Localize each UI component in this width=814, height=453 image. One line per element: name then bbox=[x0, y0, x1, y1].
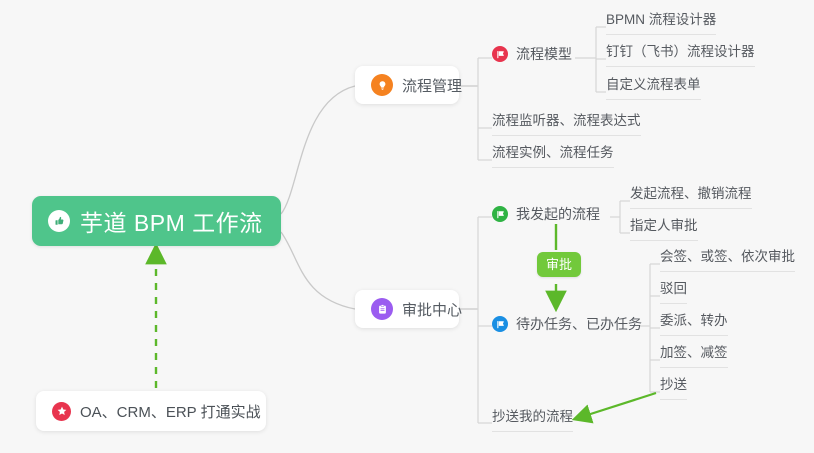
leaf-reject[interactable]: 驳回 bbox=[660, 281, 687, 304]
star-icon bbox=[52, 402, 71, 421]
node-process-model-label: 流程模型 bbox=[516, 44, 572, 64]
leaf-cc-my-process[interactable]: 抄送我的流程 bbox=[492, 409, 573, 432]
link-root-to-approval-center bbox=[281, 232, 355, 309]
clipboard-icon bbox=[371, 298, 393, 320]
leaf-custom-form[interactable]: 自定义流程表单 bbox=[606, 77, 701, 100]
arrow-cc-to-cc-my-process bbox=[578, 393, 656, 418]
node-todo-done[interactable]: 待办任务、已办任务 bbox=[492, 313, 642, 335]
leaf-delegate-transfer[interactable]: 委派、转办 bbox=[660, 313, 728, 336]
leaf-start-cancel[interactable]: 发起流程、撤销流程 bbox=[630, 186, 752, 209]
leaf-dingtalk-designer[interactable]: 钉钉（飞书）流程设计器 bbox=[606, 44, 755, 67]
leaf-add-remove-sign[interactable]: 加签、减签 bbox=[660, 345, 728, 368]
leaf-assignee-approve[interactable]: 指定人审批 bbox=[630, 218, 698, 241]
node-approval-center-label: 审批中心 bbox=[402, 299, 462, 320]
thumbs-up-icon bbox=[48, 210, 70, 232]
flag-icon bbox=[492, 316, 508, 332]
leaf-multi-sign[interactable]: 会签、或签、依次审批 bbox=[660, 249, 795, 272]
leaf-cc[interactable]: 抄送 bbox=[660, 377, 687, 400]
node-approval-center[interactable]: 审批中心 bbox=[355, 290, 459, 328]
lightbulb-icon bbox=[371, 74, 393, 96]
node-process-mgmt[interactable]: 流程管理 bbox=[355, 66, 459, 104]
node-process-mgmt-label: 流程管理 bbox=[402, 75, 462, 96]
mindmap-canvas: 芋道 BPM 工作流 流程管理 流程模型 BPMN 流程设计器 钉钉（飞书）流程… bbox=[0, 0, 814, 453]
node-oa-crm-erp[interactable]: OA、CRM、ERP 打通实战 bbox=[36, 391, 266, 431]
node-my-initiated[interactable]: 我发起的流程 bbox=[492, 203, 600, 225]
node-process-model[interactable]: 流程模型 bbox=[492, 43, 572, 65]
root-node[interactable]: 芋道 BPM 工作流 bbox=[32, 196, 281, 246]
leaf-bpmn-designer[interactable]: BPMN 流程设计器 bbox=[606, 12, 716, 35]
flag-icon bbox=[492, 46, 508, 62]
badge-approve: 审批 bbox=[537, 252, 581, 277]
root-label: 芋道 BPM 工作流 bbox=[80, 204, 263, 238]
flag-icon bbox=[492, 206, 508, 222]
node-oa-crm-erp-label: OA、CRM、ERP 打通实战 bbox=[80, 401, 261, 422]
leaf-listener-expr[interactable]: 流程监听器、流程表达式 bbox=[492, 113, 641, 136]
link-root-to-process-mgmt bbox=[281, 86, 355, 214]
leaf-instance-task[interactable]: 流程实例、流程任务 bbox=[492, 145, 614, 168]
node-my-initiated-label: 我发起的流程 bbox=[516, 204, 600, 224]
node-todo-done-label: 待办任务、已办任务 bbox=[516, 314, 642, 334]
